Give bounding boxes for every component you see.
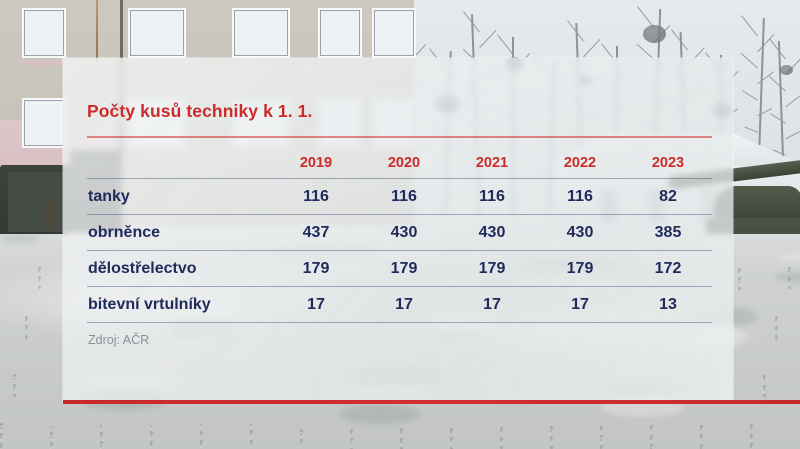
barracks-window [232, 8, 290, 58]
barracks-window [22, 98, 66, 148]
tree-branch [583, 39, 600, 58]
cell-delostrelectvo-2022: 179 [536, 251, 624, 287]
barracks-window [372, 8, 416, 58]
tree-branch [742, 90, 758, 101]
table-header-row: 2019 2020 2021 2022 2023 [87, 148, 712, 179]
tree-branch [785, 94, 800, 107]
column-header-2021: 2021 [448, 148, 536, 179]
column-header-2020: 2020 [360, 148, 448, 179]
panel-bottom-accent-line [63, 400, 800, 404]
table-row: dělostřelectvo 179 179 179 179 172 [87, 251, 712, 287]
column-header-2019: 2019 [272, 148, 360, 179]
cell-obrnence-2022: 430 [536, 215, 624, 251]
cell-delostrelectvo-2020: 179 [360, 251, 448, 287]
table-row: tanky 116 116 116 116 82 [87, 179, 712, 215]
row-label-obrnence: obrněnce [87, 215, 272, 251]
row-label-tanky: tanky [87, 179, 272, 215]
ground-patch [340, 404, 420, 424]
cell-obrnence-2021: 430 [448, 215, 536, 251]
infographic-panel: Počty kusů techniky k 1. 1. 2019 2020 20… [63, 58, 733, 402]
cell-bitevni-vrtulniky-2021: 17 [448, 287, 536, 323]
mistletoe-clump [780, 65, 793, 75]
column-header-2022: 2022 [536, 148, 624, 179]
tree-branch [785, 131, 800, 140]
column-header-category [87, 148, 272, 179]
row-label-delostrelectvo: dělostřelectvo [87, 251, 272, 287]
tree-branch [741, 53, 758, 69]
cell-bitevni-vrtulniky-2022: 17 [536, 287, 624, 323]
table-body: tanky 116 116 116 116 82 obrněnce 437 43… [87, 179, 712, 323]
cell-tanky-2022: 116 [536, 179, 624, 215]
data-table: 2019 2020 2021 2022 2023 tanky 116 116 1… [87, 148, 712, 323]
source-credit: Zdroj: AČR [88, 333, 149, 347]
barracks-window-sill [19, 150, 67, 155]
graphic-title: Počty kusů techniky k 1. 1. [87, 101, 312, 122]
soldier-figure [44, 196, 57, 230]
screenshot-root: Počty kusů techniky k 1. 1. 2019 2020 20… [0, 0, 800, 449]
tree-branch [770, 113, 786, 124]
ground-patch [0, 234, 40, 242]
barracks-window [318, 8, 362, 58]
tree-branch [744, 126, 758, 133]
cell-tanky-2019: 116 [272, 179, 360, 215]
ground-patch [777, 252, 800, 263]
cell-bitevni-vrtulniky-2020: 17 [360, 287, 448, 323]
cell-tanky-2021: 116 [448, 179, 536, 215]
table-row: obrněnce 437 430 430 430 385 [87, 215, 712, 251]
military-truck-cargo-box [8, 172, 66, 232]
barracks-window [22, 8, 66, 58]
title-underline [87, 136, 712, 138]
barracks-window-sill [19, 60, 67, 65]
column-header-2023: 2023 [624, 148, 712, 179]
tree-branch [741, 15, 758, 36]
row-label-bitevni-vrtulniky: bitevní vrtulníky [87, 287, 272, 323]
tree-branch [769, 76, 786, 92]
cell-delostrelectvo-2021: 179 [448, 251, 536, 287]
cell-bitevni-vrtulniky-2023: 13 [624, 287, 712, 323]
cell-delostrelectvo-2023: 172 [624, 251, 712, 287]
table-header: 2019 2020 2021 2022 2023 [87, 148, 712, 179]
cell-tanky-2020: 116 [360, 179, 448, 215]
ground-patch [774, 270, 800, 284]
cell-delostrelectvo-2019: 179 [272, 251, 360, 287]
mistletoe-clump [643, 25, 666, 43]
barracks-window [128, 8, 186, 58]
cell-obrnence-2020: 430 [360, 215, 448, 251]
table-row: bitevní vrtulníky 17 17 17 17 13 [87, 287, 712, 323]
flag-rope [96, 0, 98, 62]
cell-tanky-2023: 82 [624, 179, 712, 215]
cell-obrnence-2019: 437 [272, 215, 360, 251]
cell-bitevni-vrtulniky-2019: 17 [272, 287, 360, 323]
cell-obrnence-2023: 385 [624, 215, 712, 251]
tree-branch [479, 30, 496, 49]
